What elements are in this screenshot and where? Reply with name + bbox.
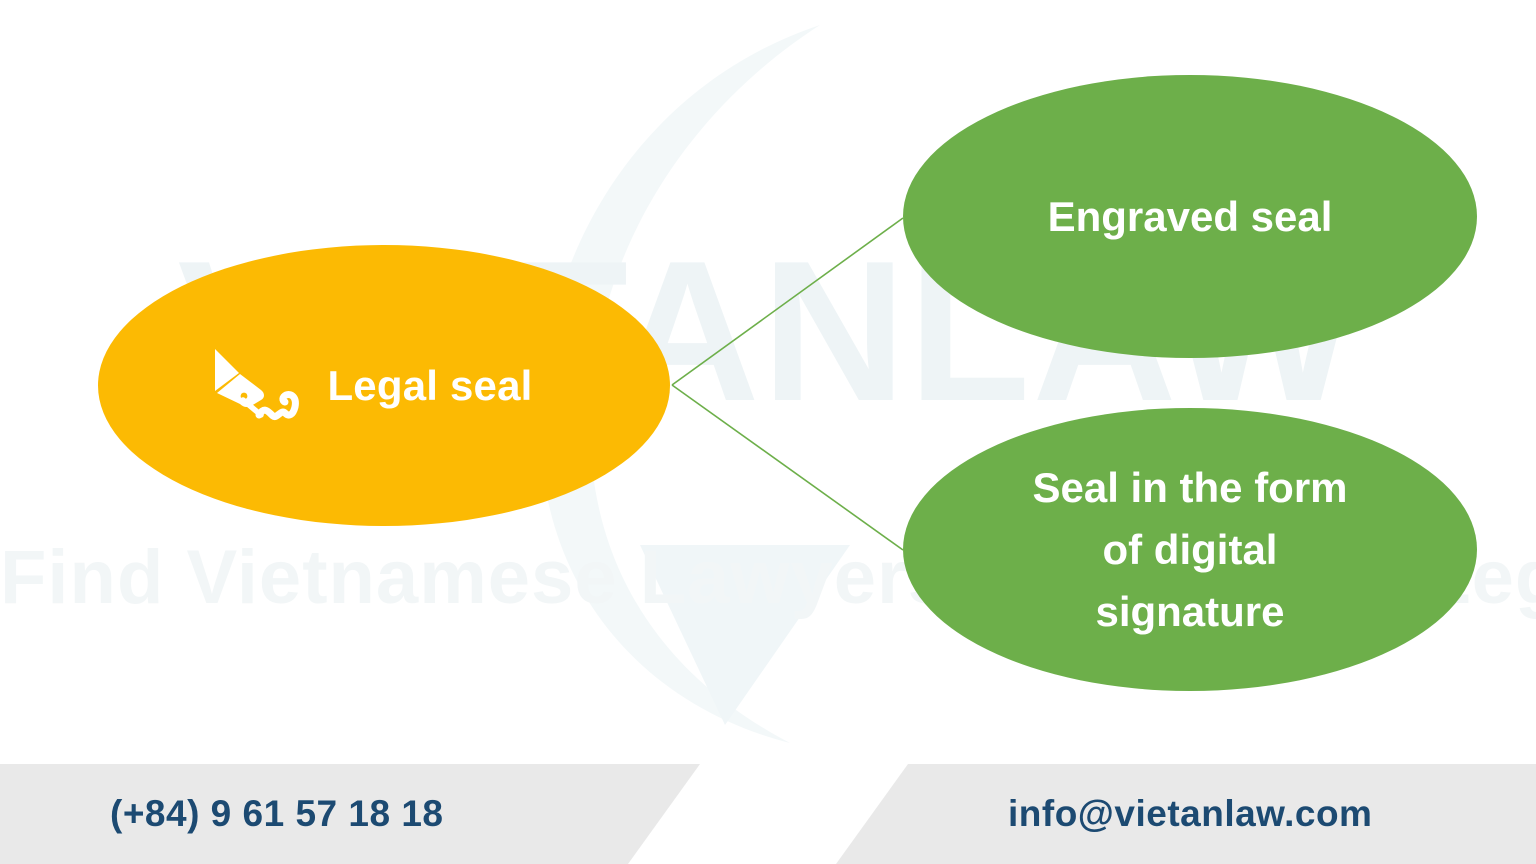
fountain-pen-signature-icon [199,343,317,429]
footer-email-text[interactable]: info@vietanlaw.com [1008,793,1372,835]
footer-bar: (+84) 9 61 57 18 18 info@vietanlaw.com [0,764,1536,864]
node-digital-signature-seal[interactable]: Seal in the form of digital signature [903,408,1477,691]
footer-phone-panel: (+84) 9 61 57 18 18 [0,764,700,864]
node-engraved-seal[interactable]: Engraved seal [903,75,1477,358]
node-legal-seal[interactable]: Legal seal [98,245,670,526]
footer-phone-text[interactable]: (+84) 9 61 57 18 18 [110,793,444,835]
connector-line-to-engraved [672,218,903,385]
slide-canvas: VIETANLAW Find Vietnamese Lawyers, Law F… [0,0,1536,864]
node-legal-seal-label: Legal seal [327,363,532,409]
connector-line-to-digital [672,385,903,550]
node-engraved-seal-label: Engraved seal [1048,194,1333,240]
footer-email-panel: info@vietanlaw.com [836,764,1536,864]
node-digital-signature-seal-label: Seal in the form of digital signature [1032,457,1347,643]
